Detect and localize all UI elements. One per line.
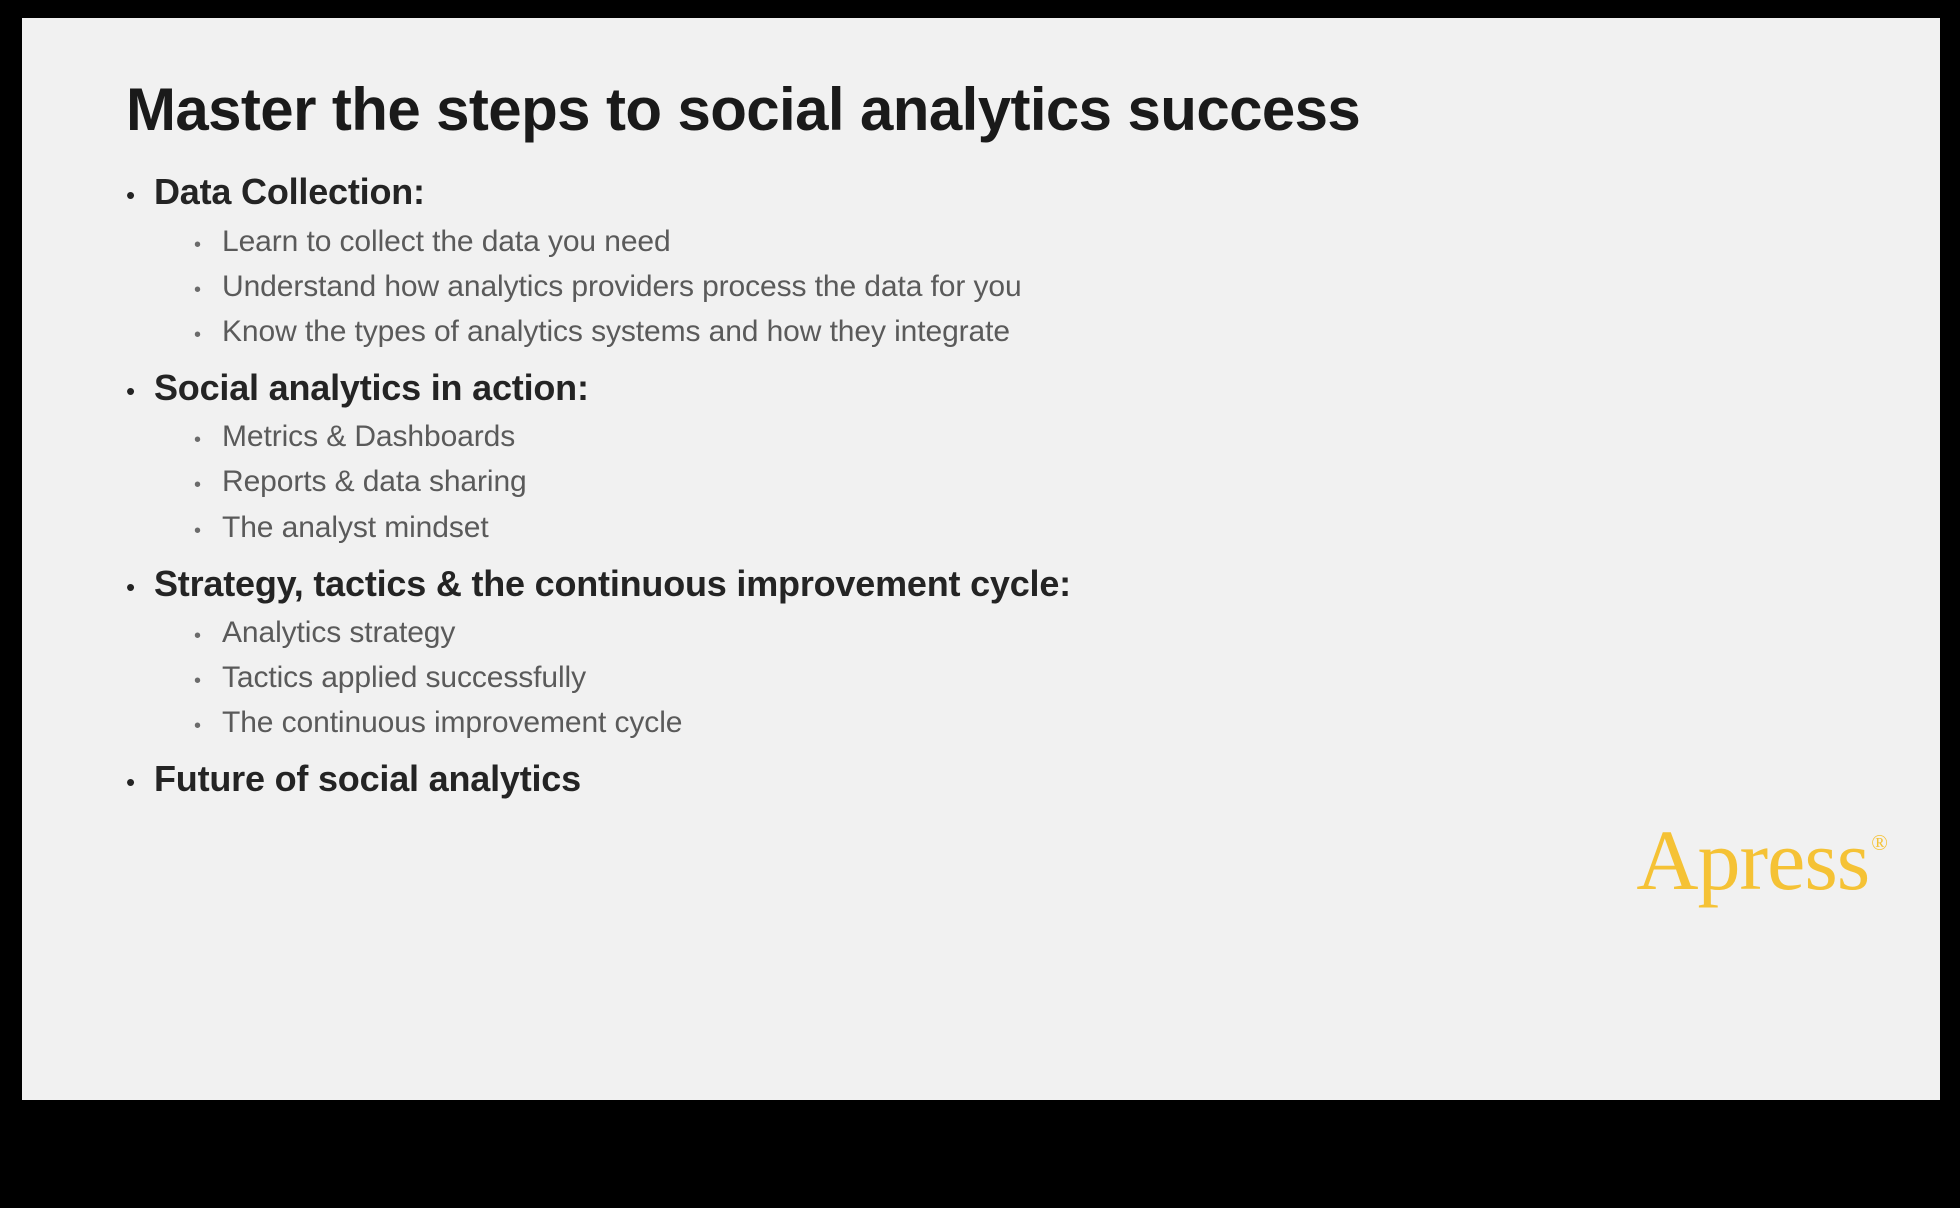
list-item-label: Learn to collect the data you need (222, 220, 671, 264)
list-item: • The analyst mindset (126, 506, 1880, 550)
list-item: • Analytics strategy (126, 611, 1880, 655)
list-item-label: The continuous improvement cycle (222, 701, 682, 745)
bullet-heading: • Future of social analytics (126, 755, 1880, 803)
apress-logo: Apress ® (1636, 820, 1888, 902)
list-item: • Metrics & Dashboards (126, 415, 1880, 459)
list-item: • Know the types of analytics systems an… (126, 310, 1880, 354)
bullet-dot-icon: • (194, 626, 222, 646)
bullet-dot-icon: • (126, 574, 154, 600)
list-item: • Reports & data sharing (126, 460, 1880, 504)
list-item-label: Reports & data sharing (222, 460, 527, 504)
apress-wordmark: Apress (1636, 820, 1869, 902)
bullet-dot-icon: • (194, 280, 222, 300)
list-item: • The continuous improvement cycle (126, 701, 1880, 745)
bullet-group-social-analytics-in-action: • Social analytics in action: • Metrics … (126, 364, 1880, 550)
bullet-dot-icon: • (194, 671, 222, 691)
list-item: • Learn to collect the data you need (126, 220, 1880, 264)
bullet-dot-icon: • (194, 235, 222, 255)
bullet-heading-label: Data Collection: (154, 168, 425, 216)
bullet-heading-label: Future of social analytics (154, 755, 581, 803)
bullet-heading: • Social analytics in action: (126, 364, 1880, 412)
bullet-dot-icon: • (126, 182, 154, 208)
slide-body: • Data Collection: • Learn to collect th… (126, 168, 1880, 807)
bullet-heading-label: Strategy, tactics & the continuous impro… (154, 560, 1071, 608)
bullet-dot-icon: • (194, 716, 222, 736)
bullet-dot-icon: • (126, 378, 154, 404)
presentation-slide: Master the steps to social analytics suc… (22, 18, 1940, 1100)
list-item: • Understand how analytics providers pro… (126, 265, 1880, 309)
list-item-label: The analyst mindset (222, 506, 489, 550)
video-letterbox-frame: Master the steps to social analytics suc… (0, 0, 1960, 1208)
bullet-dot-icon: • (126, 769, 154, 795)
list-item-label: Metrics & Dashboards (222, 415, 515, 459)
registered-trademark-icon: ® (1871, 832, 1888, 854)
page-title: Master the steps to social analytics suc… (126, 75, 1360, 144)
list-item-label: Analytics strategy (222, 611, 455, 655)
bullet-dot-icon: • (194, 475, 222, 495)
bullet-dot-icon: • (194, 325, 222, 345)
list-item-label: Understand how analytics providers proce… (222, 265, 1022, 309)
list-item-label: Know the types of analytics systems and … (222, 310, 1010, 354)
bullet-group-strategy-tactics-cycle: • Strategy, tactics & the continuous imp… (126, 560, 1880, 746)
bullet-heading: • Strategy, tactics & the continuous imp… (126, 560, 1880, 608)
bullet-group-data-collection: • Data Collection: • Learn to collect th… (126, 168, 1880, 354)
bullet-group-future-of-social-analytics: • Future of social analytics (126, 755, 1880, 803)
bullet-dot-icon: • (194, 430, 222, 450)
bullet-heading: • Data Collection: (126, 168, 1880, 216)
list-item-label: Tactics applied successfully (222, 656, 586, 700)
list-item: • Tactics applied successfully (126, 656, 1880, 700)
bullet-dot-icon: • (194, 521, 222, 541)
bullet-heading-label: Social analytics in action: (154, 364, 589, 412)
